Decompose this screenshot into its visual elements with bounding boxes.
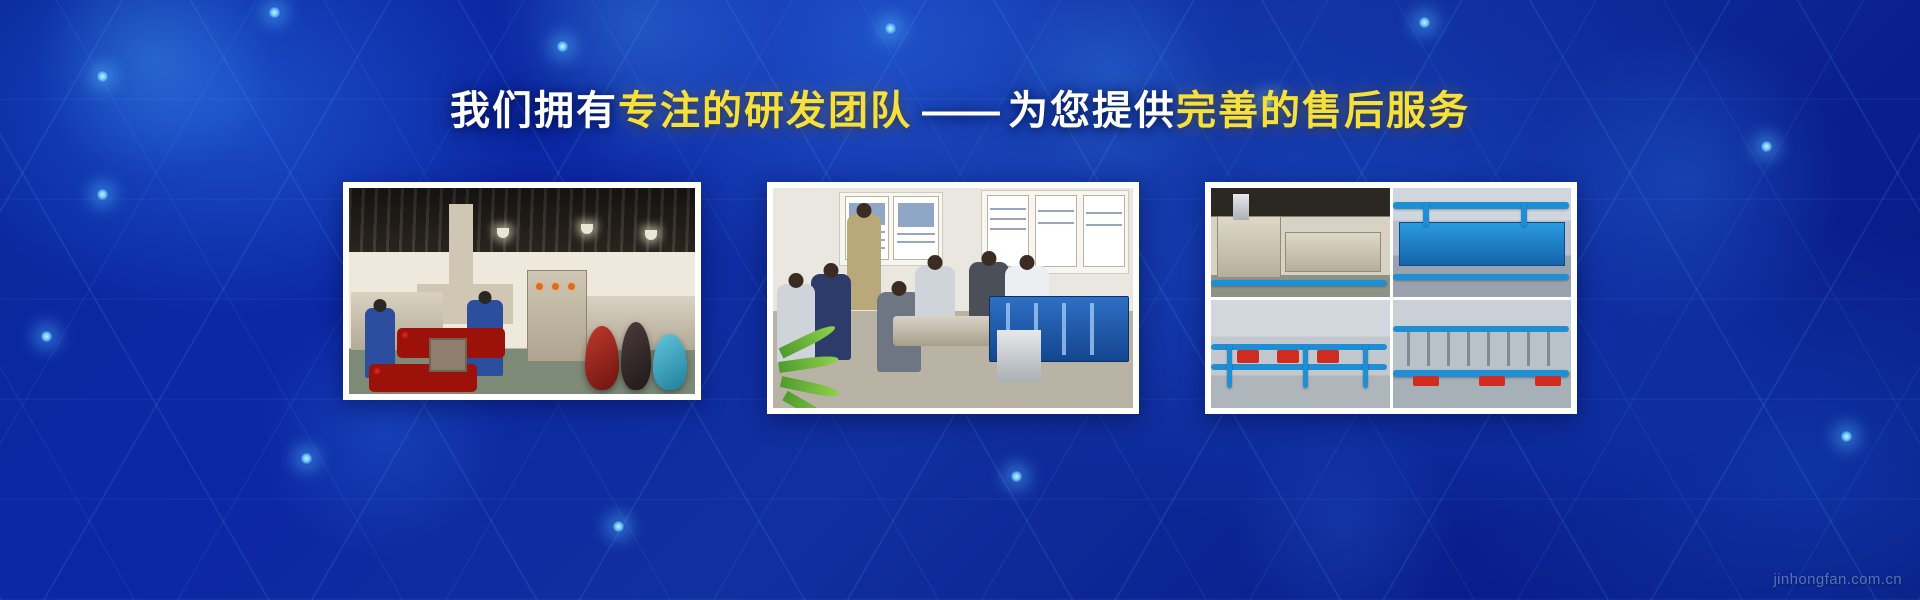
mesh-node-icon: [556, 40, 569, 53]
foreground-plant: [775, 338, 865, 408]
support-post: [1423, 202, 1429, 226]
red-workpiece: [1237, 350, 1259, 363]
mesh-node-icon: [1760, 140, 1773, 153]
red-base-block: [1413, 376, 1439, 386]
curing-oven: [1217, 216, 1281, 278]
frame-upright: [1227, 344, 1232, 388]
ceiling-structure: [349, 188, 695, 252]
certificate-line: [1086, 212, 1121, 214]
machine-panel-line: [1090, 303, 1094, 355]
conveyor-rail: [1211, 364, 1387, 370]
certificate-sheet: [1083, 195, 1125, 267]
plant-leaf: [778, 354, 839, 373]
site-watermark: jinhongfan.com.cn: [1773, 571, 1902, 588]
conveyor-rail: [1211, 344, 1387, 350]
certificate-line: [990, 208, 1025, 210]
hanging-hook-icon: [1447, 332, 1450, 366]
red-base-block: [1479, 376, 1505, 386]
frame-upright: [1303, 344, 1308, 388]
info-poster: [893, 196, 939, 260]
mesh-node-icon: [96, 70, 109, 83]
mesh-node-icon: [884, 22, 897, 35]
equipment-cabinet: [997, 330, 1041, 382]
red-workpiece: [1317, 350, 1339, 363]
certificate-line: [1086, 224, 1121, 226]
photo-panel-group: [0, 182, 1920, 414]
mesh-node-icon: [268, 6, 281, 19]
hanging-hook-icon: [1507, 332, 1510, 366]
hanging-hook-icon: [1547, 332, 1550, 366]
blue-tunnel-oven: [1399, 222, 1565, 266]
photo-panel-production-equipment[interactable]: [1205, 182, 1577, 414]
photo-hanging-fixtures: [1393, 300, 1572, 409]
headline-segment-2-highlight: 完善的售后服务: [1176, 89, 1470, 133]
hanging-hook-icon: [1527, 332, 1530, 366]
mesh-node-icon: [300, 452, 313, 465]
headline-segment-2: 为您提供: [1008, 89, 1176, 133]
overhead-blue-pipe: [1393, 202, 1569, 209]
hanging-hook-icon: [1427, 332, 1430, 366]
photo-panel-factory-coating-line[interactable]: [343, 182, 701, 400]
poster-text-line: [897, 233, 936, 235]
storage-crate: [429, 338, 467, 372]
support-post: [1521, 202, 1527, 226]
mesh-node-icon: [1840, 430, 1853, 443]
certificate-line: [990, 218, 1025, 220]
control-panel: [527, 270, 587, 362]
conveyor-housing: [1285, 232, 1381, 272]
person-standing-presenter: [847, 214, 881, 310]
headline-separator: ——: [912, 89, 1008, 133]
photo-curing-oven: [1211, 188, 1390, 297]
certificate-line: [1038, 222, 1073, 224]
certificate-sheet: [1035, 195, 1077, 267]
photo-client-meeting-room: [773, 188, 1133, 408]
hanging-hook-icon: [1467, 332, 1470, 366]
certificate-line: [990, 228, 1025, 230]
hanging-hook-icon: [1407, 332, 1410, 366]
red-base-block: [1535, 376, 1561, 386]
hanging-hook-icon: [1487, 332, 1490, 366]
headline-segment-1-highlight: 专注的研发团队: [618, 89, 912, 133]
frame-upright: [1363, 344, 1368, 388]
lower-blue-rail: [1393, 274, 1569, 280]
photo-blue-tunnel-oven: [1393, 188, 1572, 297]
banner-headline: 我们拥有专注的研发团队——为您提供完善的售后服务: [0, 86, 1920, 136]
mesh-node-icon: [612, 520, 625, 533]
control-dial-icon: [536, 283, 543, 290]
mesh-node-icon: [1010, 470, 1023, 483]
oven-duct: [1233, 194, 1249, 220]
exhaust-duct: [449, 204, 473, 296]
mesh-node-icon: [1418, 16, 1431, 29]
photo-conveyor-line: [1211, 300, 1390, 409]
poster-text-line: [897, 241, 936, 243]
blue-pipe: [1211, 280, 1387, 286]
photo-production-equipment-quad: [1211, 188, 1571, 408]
control-dial-icon: [552, 283, 559, 290]
poster-image: [898, 203, 935, 227]
certificate-line: [1038, 210, 1073, 212]
overhead-rail: [1393, 326, 1569, 332]
promo-banner: 我们拥有专注的研发团队——为您提供完善的售后服务: [0, 0, 1920, 600]
photo-panel-client-meeting[interactable]: [767, 182, 1139, 414]
machine-panel-line: [1062, 303, 1066, 355]
headline-segment-1: 我们拥有: [450, 89, 618, 133]
control-dial-icon: [568, 283, 575, 290]
photo-factory-coating-line: [349, 188, 695, 394]
red-workpiece: [1277, 350, 1299, 363]
